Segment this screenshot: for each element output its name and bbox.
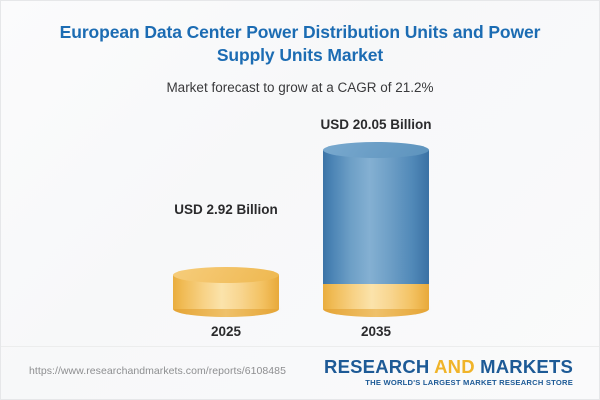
chart-plot-area: USD 2.92 Billion 2025 USD 20.05 Billion [1,105,600,345]
chart-card: European Data Center Power Distribution … [0,0,600,400]
logo-word-and: AND [434,356,475,377]
cylinder-top-ellipse [173,267,279,283]
logo-tagline: THE WORLD'S LARGEST MARKET RESEARCH STOR… [324,378,573,387]
chart-subtitle: Market forecast to grow at a CAGR of 21.… [37,79,563,97]
x-axis-label-2025: 2025 [146,324,306,339]
bar-value-label-2035: USD 20.05 Billion [296,117,456,132]
logo-wordmark: RESEARCH AND MARKETS [324,357,573,376]
chart-footer: https://www.researchandmarkets.com/repor… [1,346,599,399]
cylinder-body [323,150,429,284]
page-title: European Data Center Power Distribution … [37,21,563,67]
cylinder-top-ellipse [323,142,429,158]
cylinder-2035[interactable] [323,150,429,309]
logo-word-research: RESEARCH [324,356,429,377]
cylinder-segment-yellow [323,284,429,309]
chart-header: European Data Center Power Distribution … [1,1,599,97]
cylinder-segment-yellow [173,275,279,309]
cylinder-2025[interactable] [173,275,279,309]
bar-value-label-2025: USD 2.92 Billion [146,202,306,217]
report-url[interactable]: https://www.researchandmarkets.com/repor… [29,365,286,377]
cylinder-body [323,284,429,309]
logo-word-markets: MARKETS [480,356,573,377]
research-and-markets-logo[interactable]: RESEARCH AND MARKETS THE WORLD'S LARGEST… [324,357,573,387]
cylinder-segment-blue [323,150,429,284]
x-axis-label-2035: 2035 [296,324,456,339]
